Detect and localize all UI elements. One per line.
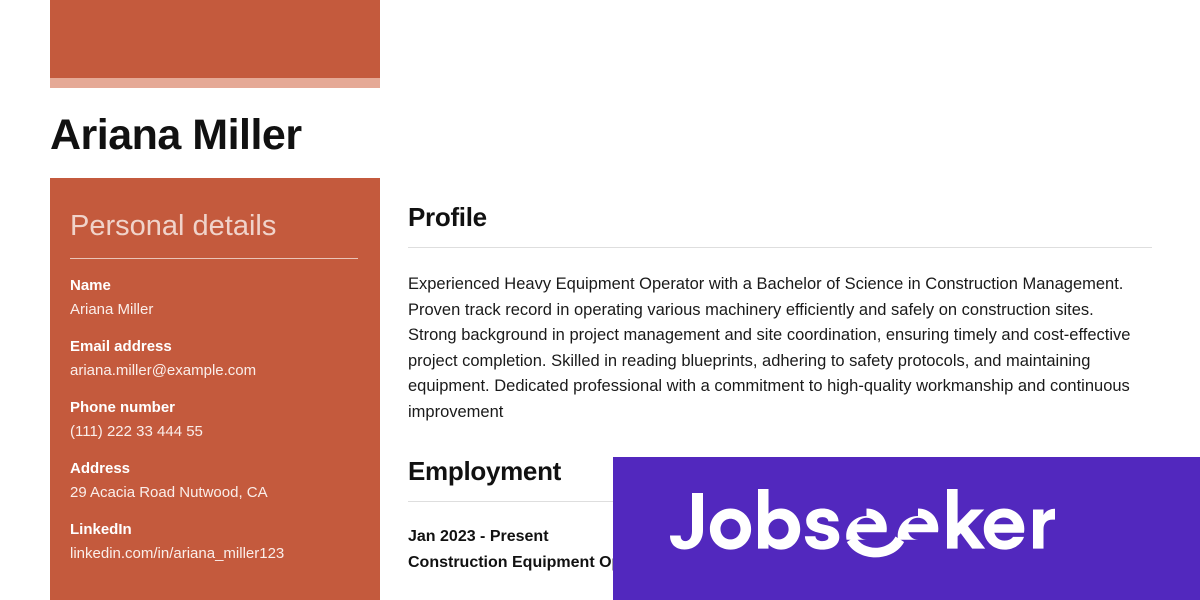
detail-value: 29 Acacia Road Nutwood, CA [70, 482, 358, 503]
detail-item-email: Email address ariana.miller@example.com [70, 337, 358, 381]
resume-document: Ariana Miller Personal details Name Aria… [0, 0, 1200, 600]
profile-heading: Profile [408, 200, 1152, 234]
detail-value: (111) 222 33 444 55 [70, 421, 358, 442]
profile-body-text: Experienced Heavy Equipment Operator wit… [408, 272, 1143, 426]
detail-item-linkedin: LinkedIn linkedin.com/in/ariana_miller12… [70, 520, 358, 564]
detail-item-name: Name Ariana Miller [70, 276, 358, 320]
detail-value: ariana.miller@example.com [70, 360, 358, 381]
sidebar-divider [70, 258, 358, 259]
detail-value: Ariana Miller [70, 299, 358, 320]
detail-label: Address [70, 459, 358, 479]
detail-label: LinkedIn [70, 520, 358, 540]
detail-label: Phone number [70, 398, 358, 418]
detail-label: Name [70, 276, 358, 296]
detail-item-phone: Phone number (111) 222 33 444 55 [70, 398, 358, 442]
detail-item-address: Address 29 Acacia Road Nutwood, CA [70, 459, 358, 503]
sidebar-title: Personal details [70, 208, 358, 244]
candidate-name: Ariana Miller [50, 108, 650, 162]
profile-divider [408, 247, 1152, 248]
profile-section: Profile Experienced Heavy Equipment Oper… [408, 200, 1152, 426]
header-banner-accent-stripe [50, 78, 380, 88]
jobseeker-watermark-overlay [613, 457, 1200, 600]
jobseeker-logo [670, 489, 1055, 561]
personal-details-sidebar: Personal details Name Ariana Miller Emai… [50, 178, 380, 600]
header-banner [50, 0, 380, 78]
detail-label: Email address [70, 337, 358, 357]
detail-value: linkedin.com/in/ariana_miller123 [70, 543, 358, 564]
